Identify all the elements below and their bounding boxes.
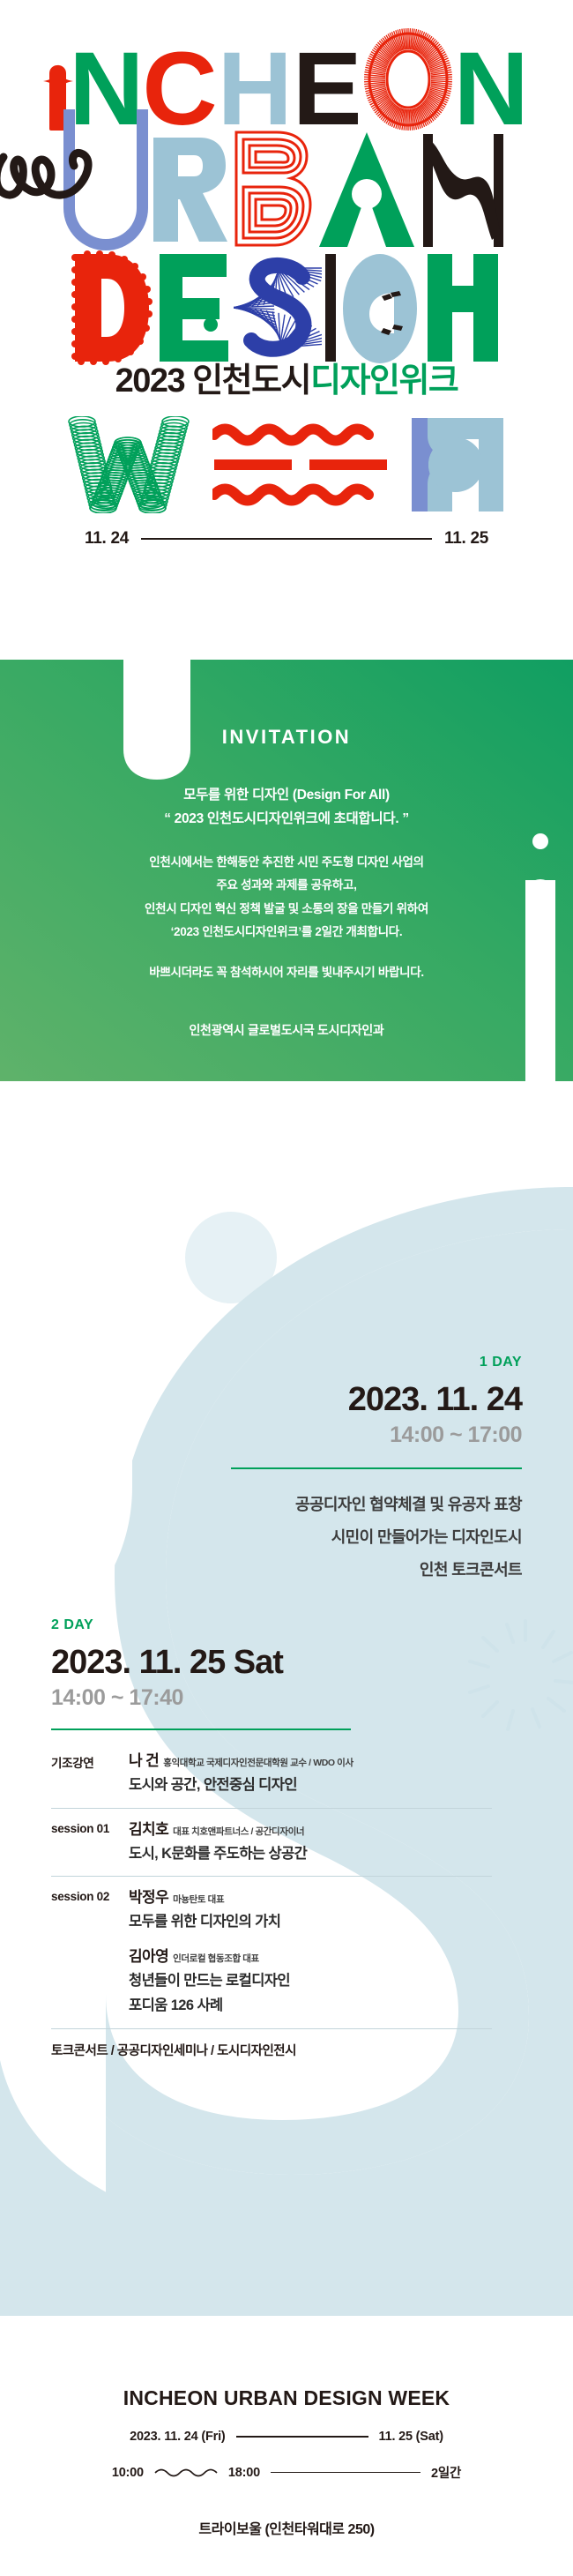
invitation-body: 인천시에서는 한해동안 추진한 시민 주도형 디자인 사업의 주요 성과와 과제… (0, 851, 573, 944)
day2-program-table: 기조강연 나 건홍익대학교 국제디자인전문대학원 교수 / WDO 이사 도시와… (51, 1751, 492, 2071)
invitation-lead: 모두를 위한 디자인 (Design For All) “ 2023 인천도시디… (0, 783, 573, 831)
program-body: 김치호대표 치호앤파트너스 / 공간디자이너 도시, K문화를 주도하는 상공간 (129, 1820, 492, 1865)
table-row: 기조강연 나 건홍익대학교 국제디자인전문대학원 교수 / WDO 이사 도시와… (51, 1751, 492, 1808)
week-graphic (0, 413, 573, 517)
program-speaker: 나 건홍익대학교 국제디자인전문대학원 교수 / WDO 이사 (129, 1751, 492, 1772)
table-row-footer: 토크콘서트 / 공공디자인세미나 / 도시디자인전시 (51, 2028, 492, 2071)
day1-item: 공공디자인 협약체결 및 유공자 표창 (0, 1489, 522, 1521)
logo-letter-d-dotted (68, 247, 153, 369)
day1-time: 14:00 ~ 17:00 (0, 1422, 522, 1448)
script-we-word (0, 134, 122, 213)
program-title: 청년들이 만드는 로컬디자인 (129, 1970, 492, 1992)
hero-section: N C H E N (0, 0, 573, 573)
footer-time-left: 10:00 (112, 2466, 144, 2480)
invitation-body-line-2: 주요 성과와 과제를 공유하고, (0, 874, 573, 897)
logo-letter-a (316, 129, 418, 250)
day1-date: 2023. 11. 24 (0, 1381, 522, 1419)
invitation-body-line-3: 인천시 디자인 혁신 정책 발굴 및 소통의 장을 만들기 위하여 (0, 898, 573, 921)
footer-date-divider (236, 2436, 368, 2438)
day2-time: 14:00 ~ 17:40 (51, 1685, 527, 1711)
logo-letter-n3 (420, 247, 505, 369)
footer-date-line: 2023. 11. 24 (Fri) 11. 25 (Sat) (0, 2430, 573, 2444)
logo-letter-e-dots (153, 247, 234, 369)
day1-block: 1 DAY 2023. 11. 24 14:00 ~ 17:00 공공디자인 협… (0, 1355, 573, 1587)
logo-letter-c: C (142, 48, 217, 131)
day1-tag: 1 DAY (0, 1355, 522, 1370)
footer-time-divider (271, 2472, 420, 2474)
program-speaker: 박정우마뇽탄토 대표 (129, 1888, 492, 1908)
invitation-lead-line-1: 모두를 위한 디자인 (Design For All) (0, 783, 573, 807)
program-speaker: 김치호대표 치호앤파트너스 / 공간디자이너 (129, 1820, 492, 1841)
footer-section: INCHEON URBAN DESIGN WEEK 2023. 11. 24 (… (0, 2346, 573, 2576)
footer-time-line: 10:00 18:00 2일간 (0, 2463, 573, 2482)
logo-letter-n-wave (418, 129, 510, 250)
footer-date-left: 2023. 11. 24 (Fri) (130, 2430, 225, 2444)
logo-letter-r (148, 129, 231, 250)
program-speaker-name: 김치호 (129, 1821, 168, 1838)
invitation-organizer: 인천광역시 글로벌도시국 도시디자인과 (0, 1021, 573, 1039)
week-letters-ee (212, 421, 389, 509)
logo-letter-n2: N (454, 48, 527, 131)
footer-title: INCHEON URBAN DESIGN WEEK (0, 2386, 573, 2410)
week-letter-w (68, 416, 190, 513)
program-speaker-affiliation: 마뇽탄토 대표 (173, 1894, 224, 1905)
table-row: session 01 김치호대표 치호앤파트너스 / 공간디자이너 도시, K문… (51, 1808, 492, 1877)
hero-date-start: 11. 24 (85, 529, 129, 549)
invitation-body-line-4: ‘2023 인천도시디자인위크’를 2일간 개최합니다. (0, 921, 573, 944)
day1-item: 시민이 만들어가는 디자인도시 (0, 1521, 522, 1554)
invitation-closing: 바쁘시더라도 꼭 참석하시어 자리를 빛내주시기 바랍니다. (0, 962, 573, 980)
schedule-section: 1 DAY 2023. 11. 24 14:00 ~ 17:00 공공디자인 협… (0, 1081, 573, 2316)
program-category: session 01 (51, 1820, 129, 1835)
program-title: 도시, K문화를 주도하는 상공간 (129, 1843, 492, 1865)
program-speaker: 김아영인더로컬 협동조합 대표 (129, 1947, 492, 1967)
program-speaker-affiliation: 대표 치호앤파트너스 / 공간디자이너 (173, 1826, 304, 1837)
logo-letter-h: H (218, 48, 293, 131)
logo-line-design (0, 245, 573, 369)
logo-letter-b-concentric (231, 127, 316, 250)
page-title-green: 디자인위크 (310, 362, 458, 399)
footer-venue: 트라이보울 (인천타워대로 250) (0, 2517, 573, 2538)
invitation-content: INVITATION 모두를 위한 디자인 (Design For All) “… (0, 607, 573, 1081)
program-footer-row: 토크콘서트 / 공공디자인세미나 / 도시디자인전시 (51, 2041, 296, 2059)
day2-block: 2 DAY 2023. 11. 25 Sat 14:00 ~ 17:40 (51, 1617, 527, 1730)
day1-program-list: 공공디자인 협약체결 및 유공자 표창 시민이 만들어가는 디자인도시 인천 토… (0, 1489, 522, 1587)
invitation-lead-line-2: “ 2023 인천도시디자인위크에 초대합니다. ” (0, 807, 573, 831)
wave-divider-icon (154, 2468, 218, 2478)
program-speaker-name: 김아영 (129, 1948, 168, 1965)
program-body: 박정우마뇽탄토 대표 모두를 위한 디자인의 가치 김아영인더로컬 협동조합 대… (129, 1888, 492, 2016)
day2-date: 2023. 11. 25 Sat (51, 1644, 527, 1682)
program-title: 도시와 공간, 안전중심 디자인 (129, 1774, 492, 1796)
program-body: 나 건홍익대학교 국제디자인전문대학원 교수 / WDO 이사 도시와 공간, … (129, 1751, 492, 1796)
page-title-dark: 2023 인천도시 (115, 362, 310, 399)
day1-divider (231, 1467, 522, 1469)
day1-item: 인천 토크콘서트 (0, 1554, 522, 1587)
week-letter-k (412, 416, 505, 513)
program-speaker-name: 박정우 (129, 1889, 168, 1906)
program-title-extra: 포디움 126 사례 (129, 1995, 492, 2017)
footer-duration: 2일간 (431, 2463, 461, 2482)
program-title: 모두를 위한 디자인의 가치 (129, 1911, 492, 1933)
footer-date-right: 11. 25 (Sat) (379, 2430, 443, 2444)
program-category: 기조강연 (51, 1751, 129, 1771)
table-row: session 02 박정우마뇽탄토 대표 모두를 위한 디자인의 가치 김아영… (51, 1876, 492, 2027)
invitation-heading: INVITATION (0, 726, 573, 749)
logo-letter-u (63, 109, 148, 250)
hero-date-divider (141, 538, 432, 540)
logo-letter-o-sunburst (362, 28, 454, 131)
event-logo: N C H E N (0, 25, 573, 192)
logo-letter-o (339, 247, 420, 369)
logo-letter-i2 (322, 247, 339, 369)
logo-letter-e: E (293, 48, 362, 131)
hero-date-rail: 11. 24 11. 25 (0, 524, 573, 554)
program-speaker-name: 나 건 (129, 1752, 159, 1769)
logo-letter-s-burst (234, 247, 322, 369)
program-speaker-affiliation: 인더로컬 협동조합 대표 (173, 1953, 259, 1964)
invitation-section: INVITATION 모두를 위한 디자인 (Design For All) “… (0, 607, 573, 1081)
day2-tag: 2 DAY (51, 1617, 527, 1633)
logo-line-urban (0, 127, 573, 250)
program-speaker-affiliation: 홍익대학교 국제디자인전문대학원 교수 / WDO 이사 (163, 1758, 353, 1768)
program-category: session 02 (51, 1888, 129, 1903)
hero-date-end: 11. 25 (444, 529, 488, 549)
day2-divider (51, 1729, 351, 1730)
invitation-body-line-1: 인천시에서는 한해동안 추진한 시민 주도형 디자인 사업의 (0, 851, 573, 874)
page-title: 2023 인천도시디자인위크 (0, 353, 573, 401)
footer-time-right: 18:00 (228, 2466, 260, 2480)
